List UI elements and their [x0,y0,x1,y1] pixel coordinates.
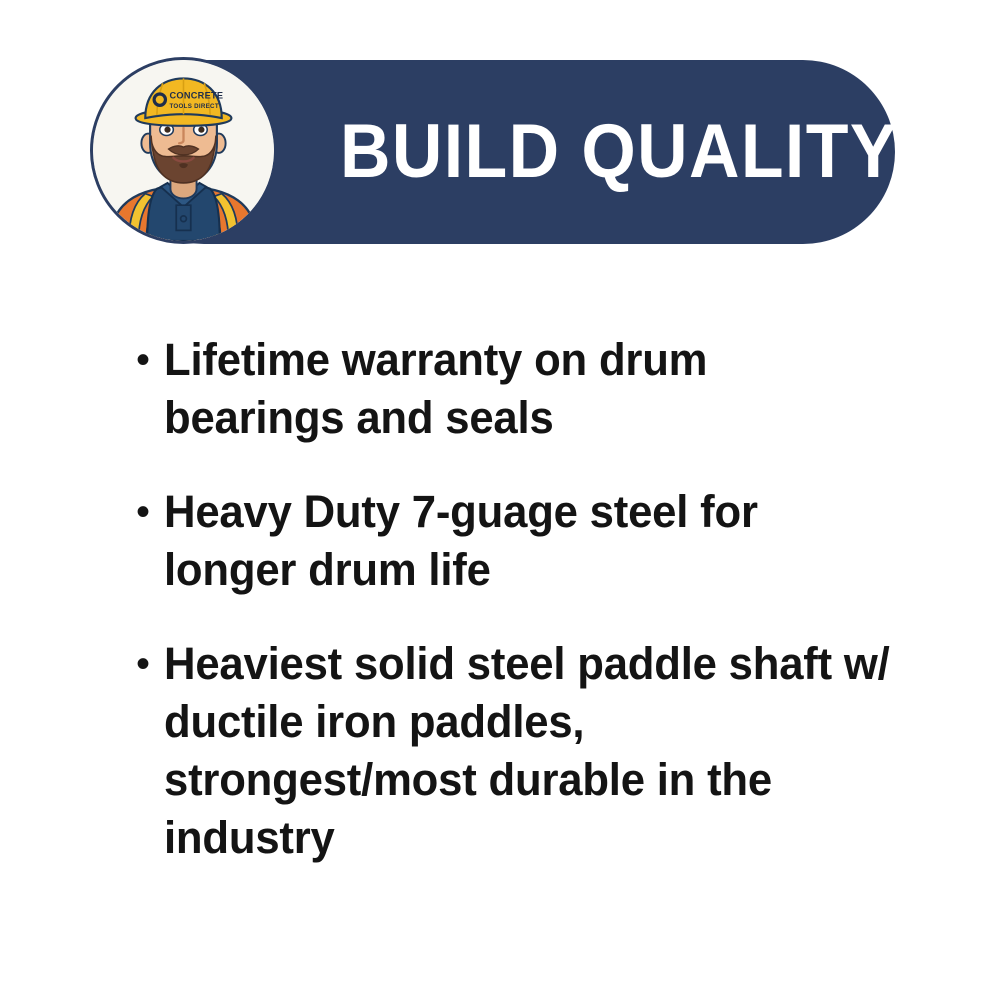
list-item: • Heaviest solid steel paddle shaft w/ d… [130,635,920,867]
avatar: CONCRETE TOOLS DIRECT [90,57,277,244]
list-item: • Heavy Duty 7-guage steel for longer dr… [130,483,920,599]
svg-text:CONCRETE: CONCRETE [169,91,223,101]
list-item: • Lifetime warranty on drum bearings and… [130,331,920,447]
feature-text: Lifetime warranty on drum bearings and s… [164,331,897,447]
svg-text:TOOLS DIRECT: TOOLS DIRECT [169,103,218,110]
bullet-icon: • [130,483,164,541]
bullet-icon: • [130,635,164,693]
feature-text: Heaviest solid steel paddle shaft w/ duc… [164,635,897,867]
feature-text: Heavy Duty 7-guage steel for longer drum… [164,483,897,599]
worker-avatar-icon: CONCRETE TOOLS DIRECT [93,60,274,241]
page-title: BUILD QUALITY [340,60,898,244]
feature-list: • Lifetime warranty on drum bearings and… [130,331,920,867]
build-quality-card: BUILD QUALITY [0,0,1000,1000]
bullet-icon: • [130,331,164,389]
